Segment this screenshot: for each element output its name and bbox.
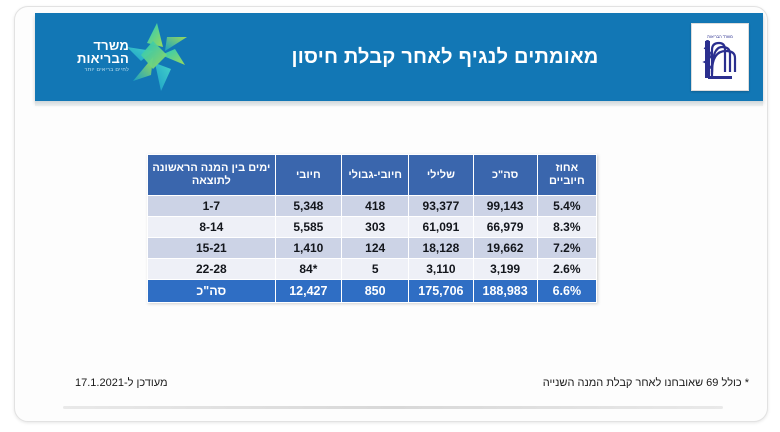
page-title: מאומתים לנגיף לאחר קבלת חיסון (215, 13, 675, 101)
total-positive: 12,427 (275, 280, 341, 303)
cell-percent: 7.2% (537, 238, 596, 259)
table-row: 8.3% 66,979 61,091 303 5,585 8-14 (148, 217, 597, 238)
total-label: סה"כ (148, 280, 276, 303)
cell-positive: 5,348 (275, 196, 341, 217)
cell-days: 15-21 (148, 238, 276, 259)
table-row: 5.4% 99,143 93,377 418 5,348 1-7 (148, 196, 597, 217)
menorah-caduceus-icon: משרד הבריאות (698, 30, 742, 84)
cell-borderline: 303 (342, 217, 409, 238)
col-header-borderline: חיובי-גבולי (342, 155, 409, 196)
header-underline (35, 101, 763, 106)
slide-frame: משרד הבריאות לחיים בריאים יותר מאומתים ל… (14, 6, 768, 422)
cell-percent: 2.6% (537, 259, 596, 280)
col-header-negative: שלילי (409, 155, 473, 196)
updated-date-text: מעודכן ל-17.1.2021 (75, 377, 168, 389)
cell-total: 99,143 (473, 196, 537, 217)
vaccination-results-table: אחוז חיוביים סה"כ שלילי חיובי-גבולי חיוב… (147, 154, 597, 303)
cell-percent: 8.3% (537, 217, 596, 238)
cell-borderline: 418 (342, 196, 409, 217)
cell-negative: 18,128 (409, 238, 473, 259)
table-row: 7.2% 19,662 18,128 124 1,410 15-21 (148, 238, 597, 259)
table-header: אחוז חיוביים סה"כ שלילי חיובי-גבולי חיוב… (148, 155, 597, 196)
table-total-row: 6.6% 188,983 175,706 850 12,427 סה"כ (148, 280, 597, 303)
total-negative: 175,706 (409, 280, 473, 303)
total-total: 188,983 (473, 280, 537, 303)
col-header-total: סה"כ (473, 155, 537, 196)
cell-days: 8-14 (148, 217, 276, 238)
cell-days: 22-28 (148, 259, 276, 280)
moh-logo-tagline: לחיים בריאים יותר (77, 68, 129, 73)
cell-negative: 61,091 (409, 217, 473, 238)
svg-text:משרד הבריאות: משרד הבריאות (707, 34, 733, 39)
cell-total: 66,979 (473, 217, 537, 238)
moh-logo-line2: הבריאות (77, 52, 129, 65)
footnote-text: * כולל 69 שאובחנו לאחר קבלת המנה השנייה (543, 377, 749, 389)
state-emblem: משרד הבריאות (691, 23, 749, 91)
cell-positive: 5,585 (275, 217, 341, 238)
cell-positive: *84 (275, 259, 341, 280)
total-percent: 6.6% (537, 280, 596, 303)
cell-days: 1-7 (148, 196, 276, 217)
cell-percent: 5.4% (537, 196, 596, 217)
table-header-row: אחוז חיוביים סה"כ שלילי חיובי-גבולי חיוב… (148, 155, 597, 196)
total-borderline: 850 (342, 280, 409, 303)
ministry-of-health-logo: משרד הבריאות לחיים בריאים יותר (45, 19, 195, 95)
table-body: 5.4% 99,143 93,377 418 5,348 1-7 8.3% 66… (148, 196, 597, 303)
cell-borderline: 124 (342, 238, 409, 259)
slide-bottom-divider (63, 406, 723, 409)
col-header-positive: חיובי (275, 155, 341, 196)
cell-borderline: 5 (342, 259, 409, 280)
cell-total: 3,199 (473, 259, 537, 280)
moh-logo-text: משרד הבריאות לחיים בריאים יותר (77, 39, 129, 73)
cell-total: 19,662 (473, 238, 537, 259)
header-band: משרד הבריאות לחיים בריאים יותר מאומתים ל… (35, 13, 763, 101)
moh-logo-line1: משרד (77, 39, 129, 52)
col-header-percent-positive: אחוז חיוביים (537, 155, 596, 196)
col-header-days-since-dose: ימים בין המנה הראשונה לתוצאה (148, 155, 276, 196)
cell-positive: 1,410 (275, 238, 341, 259)
cell-negative: 93,377 (409, 196, 473, 217)
cell-negative: 3,110 (409, 259, 473, 280)
table-row: 2.6% 3,199 3,110 5 *84 22-28 (148, 259, 597, 280)
